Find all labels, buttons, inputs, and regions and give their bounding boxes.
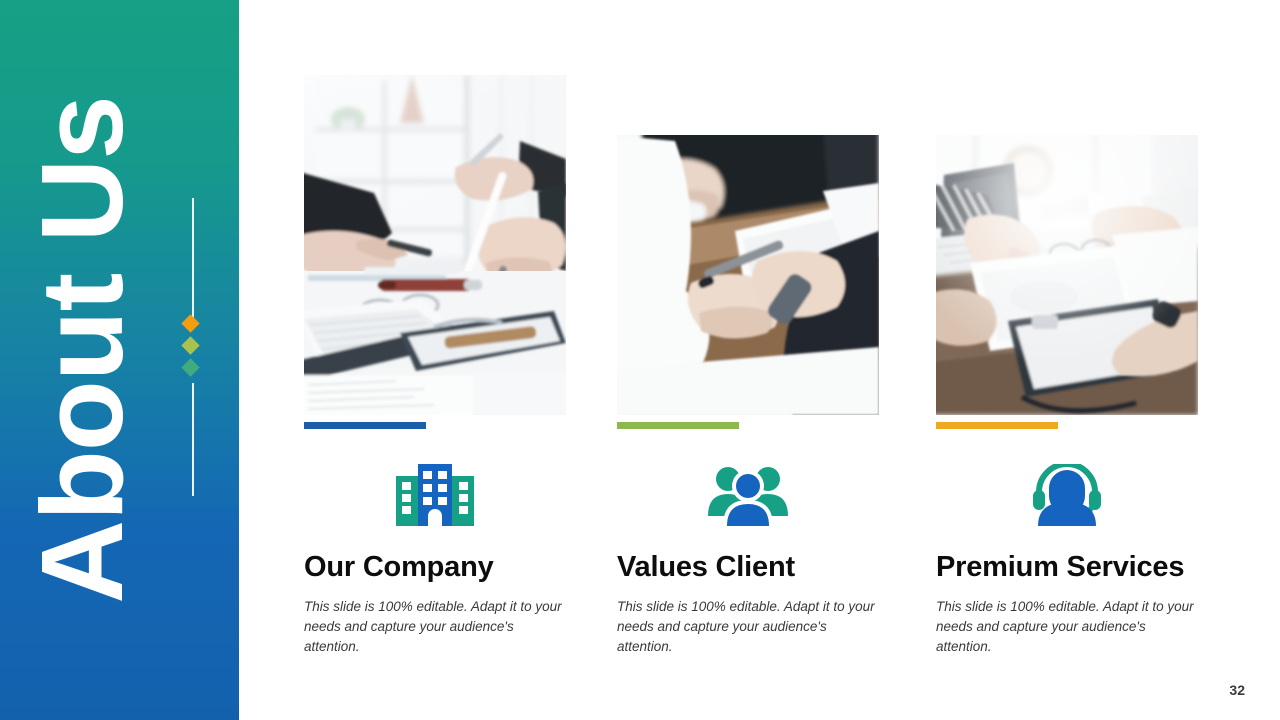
headset-support-icon bbox=[936, 456, 1198, 534]
column-body-text: This slide is 100% editable. Adapt it to… bbox=[936, 597, 1194, 658]
content-area: Our Company This slide is 100% editable.… bbox=[239, 0, 1280, 720]
diamond-orange-icon bbox=[181, 314, 199, 332]
accent-bar-blue bbox=[304, 422, 426, 429]
diamond-green-icon bbox=[181, 358, 199, 376]
column-heading: Premium Services bbox=[936, 552, 1198, 584]
diamond-olive-icon bbox=[181, 336, 199, 354]
feature-column-premium-services: Premium Services This slide is 100% edit… bbox=[936, 135, 1198, 658]
sidebar-gradient-panel: About Us bbox=[0, 0, 239, 720]
feature-column-our-company: Our Company This slide is 100% editable.… bbox=[304, 75, 566, 658]
people-group-icon bbox=[617, 456, 879, 534]
page-number: 32 bbox=[1229, 682, 1245, 698]
slide-root: About Us bbox=[0, 0, 1280, 720]
column-body-text: This slide is 100% editable. Adapt it to… bbox=[304, 597, 562, 658]
page-title: About Us bbox=[24, 0, 140, 700]
decoration-line-top bbox=[192, 198, 194, 318]
column-body-text: This slide is 100% editable. Adapt it to… bbox=[617, 597, 875, 658]
sidebar-decoration bbox=[192, 198, 194, 496]
decoration-line-bottom bbox=[192, 383, 194, 496]
office-building-icon bbox=[304, 456, 566, 534]
photo-desk-collaboration bbox=[936, 135, 1198, 415]
accent-bar-green bbox=[617, 422, 739, 429]
column-heading: Values Client bbox=[617, 552, 879, 584]
column-heading: Our Company bbox=[304, 552, 566, 584]
photo-contract-signing bbox=[617, 135, 879, 415]
feature-column-values-client: Values Client This slide is 100% editabl… bbox=[617, 135, 879, 658]
photo-business-meeting bbox=[304, 75, 566, 415]
accent-bar-orange bbox=[936, 422, 1058, 429]
